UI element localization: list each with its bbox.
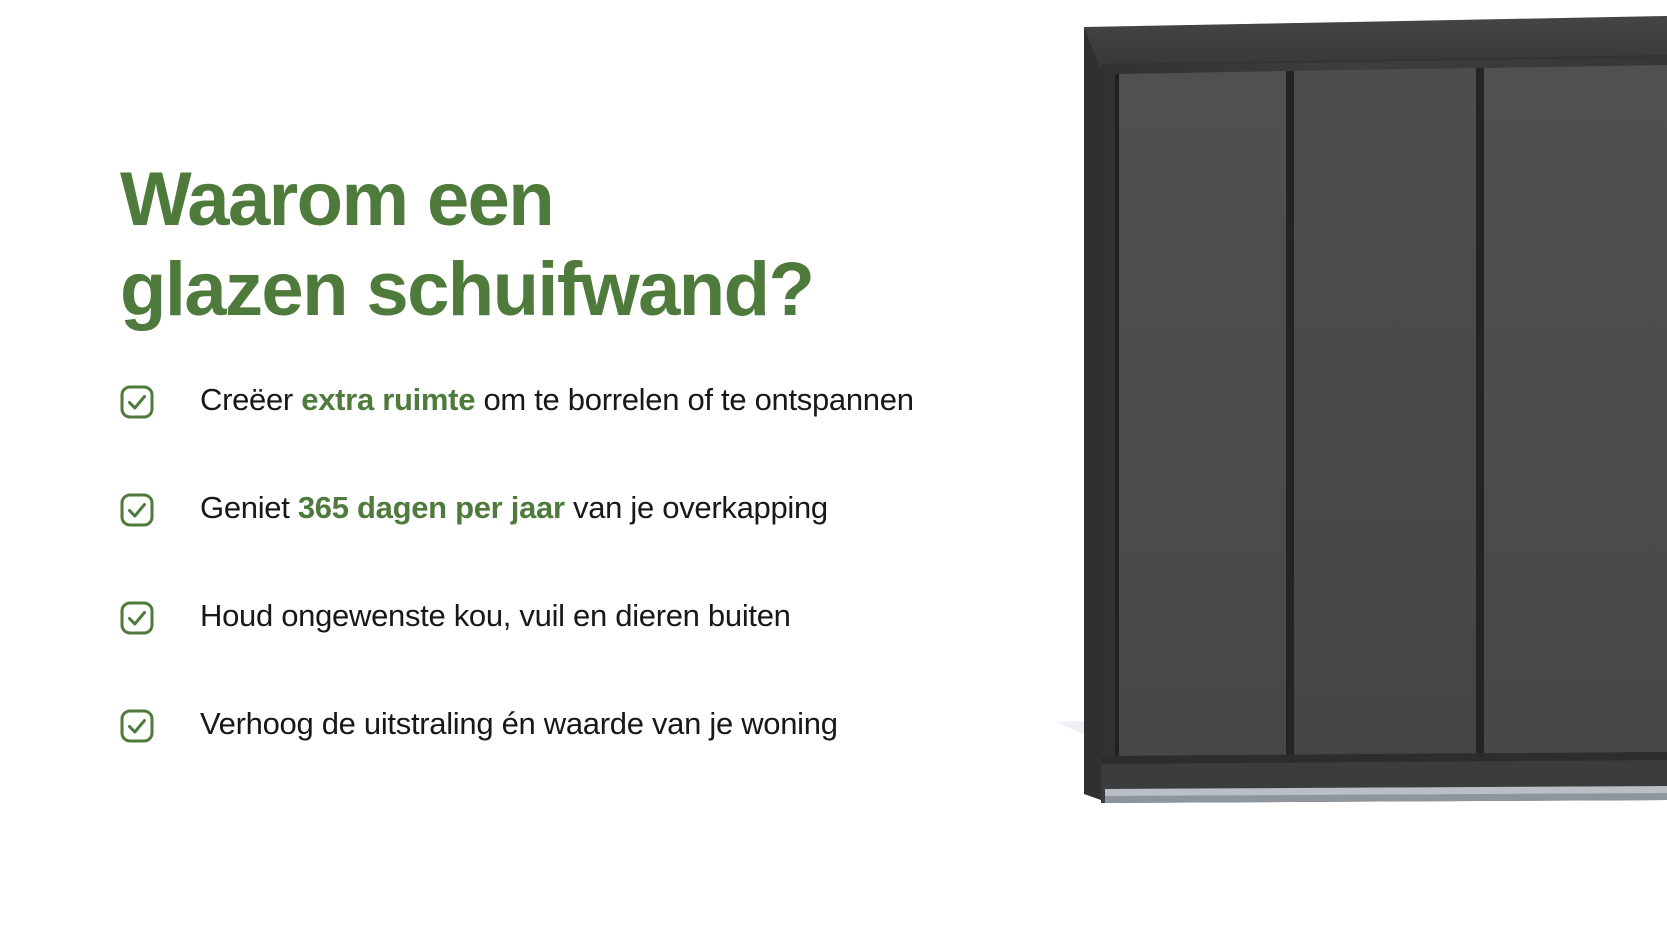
panel-divider-1	[1286, 71, 1294, 782]
list-item: Creëer extra ruimte om te borrelen of te…	[120, 378, 1060, 486]
list-item-label: Geniet 365 dagen per jaar van je overkap…	[200, 486, 828, 530]
list-item: Houd ongewenste kou, vuil en dieren buit…	[120, 594, 1060, 702]
checkbox-checked-icon	[120, 601, 154, 635]
list-item: Geniet 365 dagen per jaar van je overkap…	[120, 486, 1060, 594]
list-item: Verhoog de uitstraling én waarde van je …	[120, 702, 1060, 810]
checkbox-checked-icon	[120, 385, 154, 419]
list-item-label: Creëer extra ruimte om te borrelen of te…	[200, 378, 914, 422]
page-title-line-1: Waarom een	[120, 155, 1020, 245]
list-item-label: Verhoog de uitstraling én waarde van je …	[200, 702, 838, 746]
panel-divider-2	[1476, 68, 1484, 780]
content-column: Waarom een glazen schuifwand? Creëer ext…	[0, 0, 1060, 938]
text-segment-emphasis: 365 dagen per jaar	[298, 490, 565, 525]
glass-panel-1	[1119, 71, 1287, 784]
text-segment: Creëer	[200, 382, 301, 417]
frame-left-post	[1084, 27, 1101, 800]
page-title-line-2: glazen schuifwand?	[120, 245, 1020, 335]
text-segment: Verhoog de uitstraling én waarde van je …	[200, 706, 838, 741]
text-segment: Geniet	[200, 490, 298, 525]
text-segment: Houd ongewenste kou, vuil en dieren buit…	[200, 598, 791, 633]
page-title: Waarom een glazen schuifwand?	[120, 155, 1020, 335]
glass-panel-2	[1293, 68, 1477, 782]
checkbox-checked-icon	[120, 709, 154, 743]
text-segment: van je overkapping	[565, 490, 828, 525]
checkbox-checked-icon	[120, 493, 154, 527]
glass-edge-highlight	[1115, 74, 1119, 784]
list-item-label: Houd ongewenste kou, vuil en dieren buit…	[200, 594, 791, 638]
text-segment-emphasis: extra ruimte	[301, 382, 475, 417]
product-image	[1047, 0, 1667, 938]
slide-canvas: Waarom een glazen schuifwand? Creëer ext…	[0, 0, 1667, 938]
glass-panel-3	[1483, 65, 1667, 780]
text-segment: om te borrelen of te ontspannen	[475, 382, 913, 417]
benefits-list: Creëer extra ruimte om te borrelen of te…	[120, 378, 1060, 810]
